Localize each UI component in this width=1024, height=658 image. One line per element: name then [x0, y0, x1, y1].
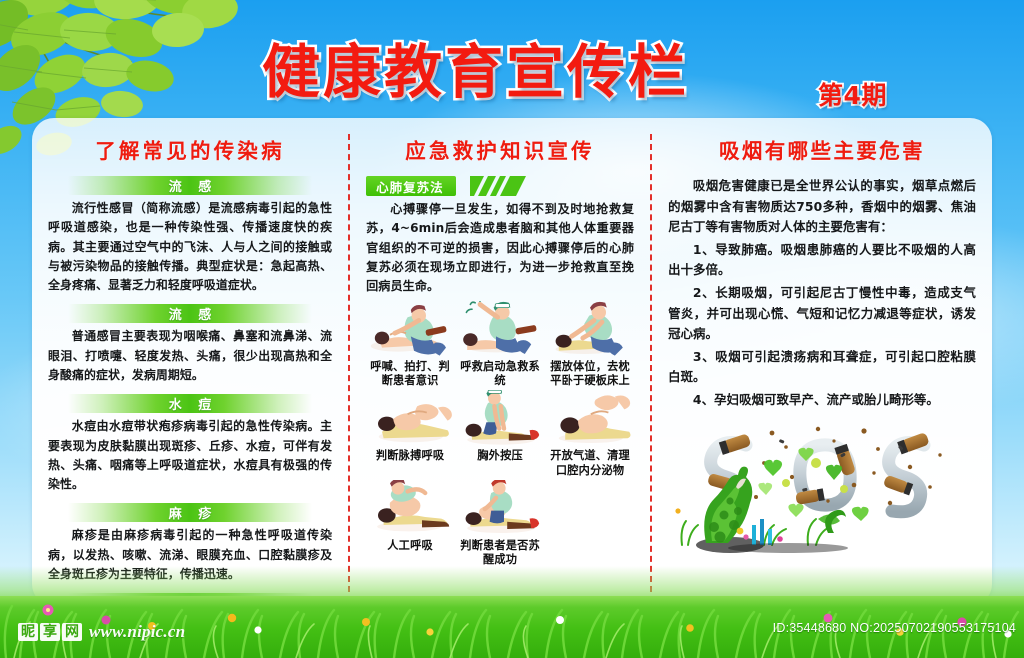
position-patient-icon [546, 301, 634, 359]
cpr-step: 呼喊、拍打、判断患者意识 [366, 301, 454, 389]
section-heading: 水 痘 [163, 394, 218, 413]
check-consciousness-icon [366, 301, 454, 359]
watermark-logo-char: 昵 [18, 623, 38, 641]
rescue-breathing-icon [366, 480, 454, 538]
chest-compression-icon [456, 390, 544, 448]
check-pulse-icon [366, 390, 454, 448]
column-smoking-harms: 吸烟有哪些主要危害 吸烟危害健康已是全世界公认的事实，烟草点燃后的烟雾中含有害物… [652, 118, 992, 606]
section-bar-chickenpox: 水 痘 [68, 394, 312, 413]
watermark-url: www.nipic.cn [89, 622, 185, 642]
section-bar-measles: 麻 疹 [68, 503, 312, 522]
column-title-right: 吸烟有哪些主要危害 [668, 134, 976, 164]
cpr-intro-body: 心搏骤停一旦发生，如得不到及时地抢救复苏，4~6min后会造成患者脑和其他人体重… [366, 200, 634, 297]
section-heading: 麻 疹 [163, 503, 218, 522]
cpr-step-caption: 摆放体位，去枕平卧于硬板床上 [546, 360, 634, 389]
section-bar-influenza-2: 流 感 [68, 304, 312, 323]
cpr-step: 胸外按压 [456, 390, 544, 478]
call-for-help-icon [456, 301, 544, 359]
cpr-step: 摆放体位，去枕平卧于硬板床上 [546, 301, 634, 389]
sos-cigarettes-icon [668, 415, 978, 575]
open-airway-icon [546, 390, 634, 448]
column-title-left: 了解常见的传染病 [48, 134, 332, 164]
poster-canvas: 健康教育宣传栏 第4期 了解常见的传染病 流 感 流行性感冒（简称流感）是流感病… [0, 0, 1024, 658]
smoking-paragraph: 2、长期吸烟，可引起尼古丁慢性中毒，造成支气管炎，并可出现心慌、气短和记忆力减退… [668, 283, 976, 345]
cpr-step: 呼救启动急救系统 [456, 301, 544, 389]
cpr-step: 判断脉搏呼吸 [366, 390, 454, 478]
watermark-logo-char: 享 [40, 623, 60, 641]
cpr-tag-row: 心肺复苏法 [366, 176, 634, 196]
watermark-logo: 昵 享 网 [18, 623, 82, 641]
section-heading: 流 感 [163, 176, 218, 195]
cpr-step: 判断患者是否苏醒成功 [456, 480, 544, 568]
cpr-step-caption: 胸外按压 [477, 449, 523, 463]
section-body: 流行性感冒（简称流感）是流感病毒引起的急性呼吸道感染，也是一种传染性强、传播速度… [48, 199, 332, 295]
cpr-step-caption: 呼救启动急救系统 [456, 360, 544, 389]
cpr-tag-label: 心肺复苏法 [366, 176, 456, 196]
section-heading: 流 感 [163, 304, 218, 323]
tag-slashes-decoration [470, 176, 532, 196]
column-infectious-diseases: 了解常见的传染病 流 感 流行性感冒（简称流感）是流感病毒引起的急性呼吸道感染，… [32, 118, 348, 606]
sos-artwork [668, 415, 976, 575]
cpr-step-caption: 人工呼吸 [387, 539, 433, 553]
cpr-step-caption: 判断脉搏呼吸 [376, 449, 444, 463]
cpr-step-caption: 呼喊、拍打、判断患者意识 [366, 360, 454, 389]
watermark-logo-char: 网 [62, 623, 82, 641]
smoking-paragraph: 1、导致肺癌。吸烟患肺癌的人要比不吸烟的人高出十多倍。 [668, 240, 976, 281]
section-body: 普通感冒主要表现为咽喉痛、鼻塞和流鼻涕、流眼泪、打喷嚏、轻度发热、头痛，很少出现… [48, 327, 332, 385]
column-emergency-first-aid: 应急救护知识宣传 心肺复苏法 心搏骤停一旦发生，如得不到及时地抢救复苏，4~6m… [350, 118, 650, 606]
smoking-paragraph: 3、吸烟可引起溃疡病和耳聋症，可引起口腔粘膜白斑。 [668, 347, 976, 388]
title-zone: 健康教育宣传栏 第4期 [0, 36, 1024, 112]
cpr-step: 开放气道、清理口腔内分泌物 [546, 390, 634, 478]
page-title: 健康教育宣传栏 [262, 36, 689, 108]
section-bar-influenza-1: 流 感 [68, 176, 312, 195]
cpr-step: 人工呼吸 [366, 480, 454, 568]
section-body: 水痘由水痘带状疱疹病毒引起的急性传染病。主要表现为皮肤黏膜出现斑疹、丘疹、水痘，… [48, 417, 332, 494]
image-id-text: ID:35448680 NO:20250702190553175104 [773, 621, 1016, 635]
cpr-step-caption: 开放气道、清理口腔内分泌物 [546, 449, 634, 478]
check-recovery-icon [456, 480, 544, 538]
smoking-paragraph: 4、孕妇吸烟可致早产、流产或胎儿畸形等。 [668, 390, 976, 411]
cpr-step-caption: 判断患者是否苏醒成功 [456, 539, 544, 568]
grass-blades [0, 574, 1024, 658]
site-watermark: 昵 享 网 www.nipic.cn [18, 622, 185, 642]
issue-number: 第4期 [818, 76, 887, 112]
cpr-steps-grid: 呼喊、拍打、判断患者意识 [366, 301, 634, 568]
column-title-mid: 应急救护知识宣传 [366, 134, 634, 164]
smoking-paragraph: 吸烟危害健康已是全世界公认的事实，烟草点燃后的烟雾中含有害物质达750多种，香烟… [668, 176, 976, 238]
content-panel: 了解常见的传染病 流 感 流行性感冒（简称流感）是流感病毒引起的急性呼吸道感染，… [32, 118, 992, 606]
